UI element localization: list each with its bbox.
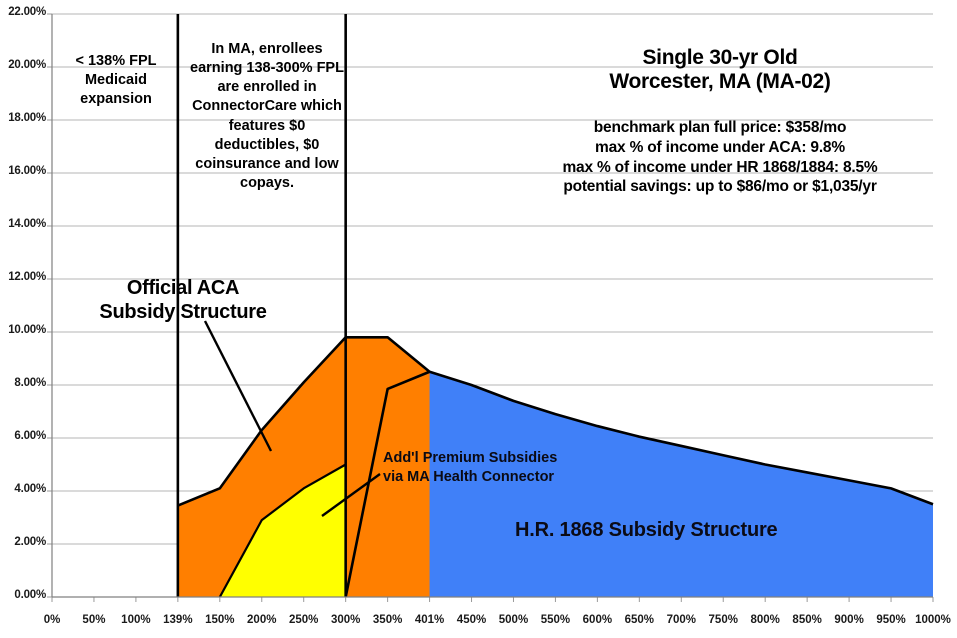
y-axis-tick-label: 14.00% bbox=[0, 218, 46, 230]
chart-title-block: Single 30-yr Old Worcester, MA (MA-02) b… bbox=[500, 26, 940, 217]
x-axis-tick-label: 100% bbox=[121, 614, 150, 626]
x-axis-tick-label: 600% bbox=[583, 614, 612, 626]
x-axis-tick-label: 0% bbox=[44, 614, 61, 626]
chart-subtitle-details: benchmark plan full price: $358/mo max %… bbox=[500, 118, 940, 197]
y-axis-tick-label: 4.00% bbox=[0, 483, 46, 495]
x-axis-tick-label: 700% bbox=[667, 614, 696, 626]
x-axis-tick-label: 1000% bbox=[915, 614, 951, 626]
x-axis-tick-label: 750% bbox=[709, 614, 738, 626]
x-axis-tick-label: 150% bbox=[205, 614, 234, 626]
x-axis-tick-label: 800% bbox=[750, 614, 779, 626]
y-axis-tick-label: 2.00% bbox=[0, 536, 46, 548]
annotation-aca-subsidy-structure: Official ACA Subsidy Structure bbox=[72, 276, 294, 325]
x-axis-tick-label: 500% bbox=[499, 614, 528, 626]
y-axis-tick-label: 22.00% bbox=[0, 6, 46, 18]
x-axis-tick-label: 50% bbox=[82, 614, 105, 626]
x-axis-tick-label: 300% bbox=[331, 614, 360, 626]
y-axis-tick-label: 6.00% bbox=[0, 430, 46, 442]
x-axis-tick-label: 650% bbox=[625, 614, 654, 626]
annotation-medicaid-expansion: < 138% FPL Medicaid expansion bbox=[52, 52, 180, 109]
annotation-connectorcare: In MA, enrollees earning 138-300% FPL ar… bbox=[186, 40, 348, 193]
y-axis-tick-label: 18.00% bbox=[0, 112, 46, 124]
y-axis-tick-label: 10.00% bbox=[0, 324, 46, 336]
x-axis-ticks bbox=[52, 597, 933, 602]
x-axis-tick-label: 200% bbox=[247, 614, 276, 626]
y-axis-tick-label: 12.00% bbox=[0, 271, 46, 283]
x-axis-tick-label: 139% bbox=[163, 614, 192, 626]
x-axis-tick-label: 900% bbox=[834, 614, 863, 626]
x-axis-tick-label: 450% bbox=[457, 614, 486, 626]
y-axis-tick-label: 20.00% bbox=[0, 59, 46, 71]
y-axis-tick-label: 8.00% bbox=[0, 377, 46, 389]
x-axis-tick-label: 350% bbox=[373, 614, 402, 626]
x-axis-tick-label: 250% bbox=[289, 614, 318, 626]
x-axis-tick-label: 401% bbox=[415, 614, 444, 626]
annotation-addl-premium-subsidies: Add'l Premium Subsidies via MA Health Co… bbox=[383, 449, 609, 487]
y-axis-tick-label: 0.00% bbox=[0, 589, 46, 601]
chart-title: Single 30-yr Old Worcester, MA (MA-02) bbox=[500, 46, 940, 96]
y-axis-tick-label: 16.00% bbox=[0, 165, 46, 177]
x-axis-tick-label: 950% bbox=[876, 614, 905, 626]
x-axis-tick-label: 850% bbox=[792, 614, 821, 626]
annotation-hr1868-subsidy-structure: H.R. 1868 Subsidy Structure bbox=[515, 518, 855, 543]
chart-container: 0.00%2.00%4.00%6.00%8.00%10.00%12.00%14.… bbox=[0, 0, 957, 638]
x-axis-tick-label: 550% bbox=[541, 614, 570, 626]
